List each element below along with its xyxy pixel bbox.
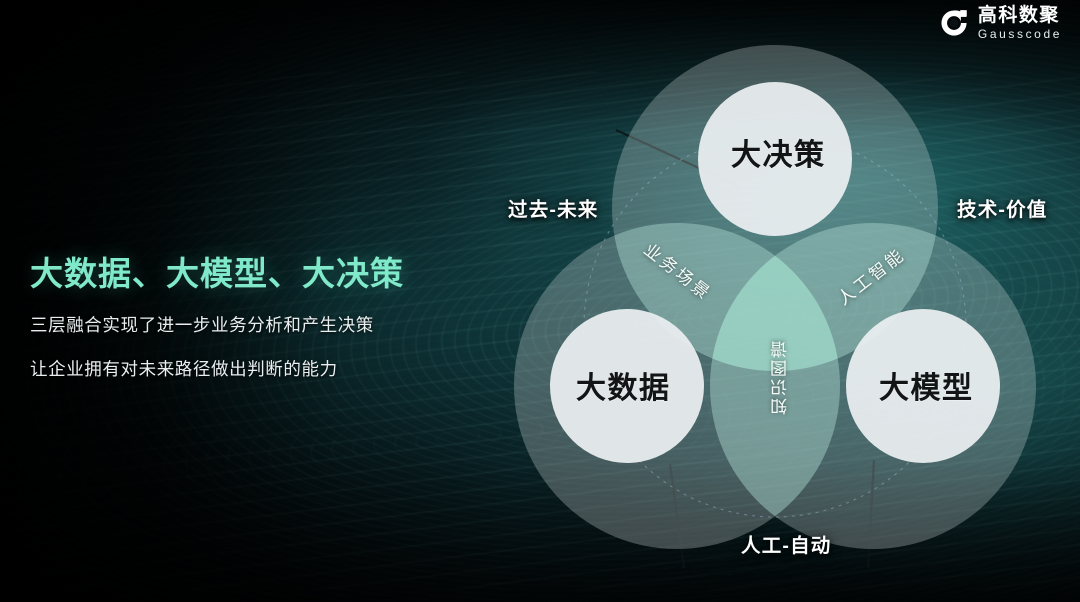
axis-label-tech-value: 技术-价值 [957,193,1048,222]
brand-logo-text: 高科数聚 Gausscode [978,6,1062,40]
gausscode-g-mark-icon [939,8,969,38]
subtitle-line-2: 让企业拥有对未来路径做出判断的能力 [30,356,460,381]
venn-label-bigdata: 大数据 [576,363,671,407]
venn-diagram [470,8,1080,602]
venn-label-model: 大模型 [879,363,974,407]
axis-label-past-future: 过去-未来 [508,193,599,222]
page-title: 大数据、大模型、大决策 [30,247,460,295]
brand-logo: 高科数聚 Gausscode [939,6,1062,40]
venn-svg [470,8,1080,602]
brand-name-en: Gausscode [978,28,1062,40]
venn-intersection-label-knowledge-graph: 知识图谱 [768,339,793,415]
axis-label-manual-auto: 人工-自动 [741,529,832,558]
brand-name-cn: 高科数聚 [978,6,1062,25]
subtitle-line-1: 三层融合实现了进一步业务分析和产生决策 [30,312,460,337]
venn-label-decision: 大决策 [731,130,826,174]
headline-block: 大数据、大模型、大决策 三层融合实现了进一步业务分析和产生决策 让企业拥有对未来… [30,247,460,381]
slide-canvas: 高科数聚 Gausscode 大数据、大模型、大决策 三层融合实现了进一步业务分… [0,0,1080,602]
